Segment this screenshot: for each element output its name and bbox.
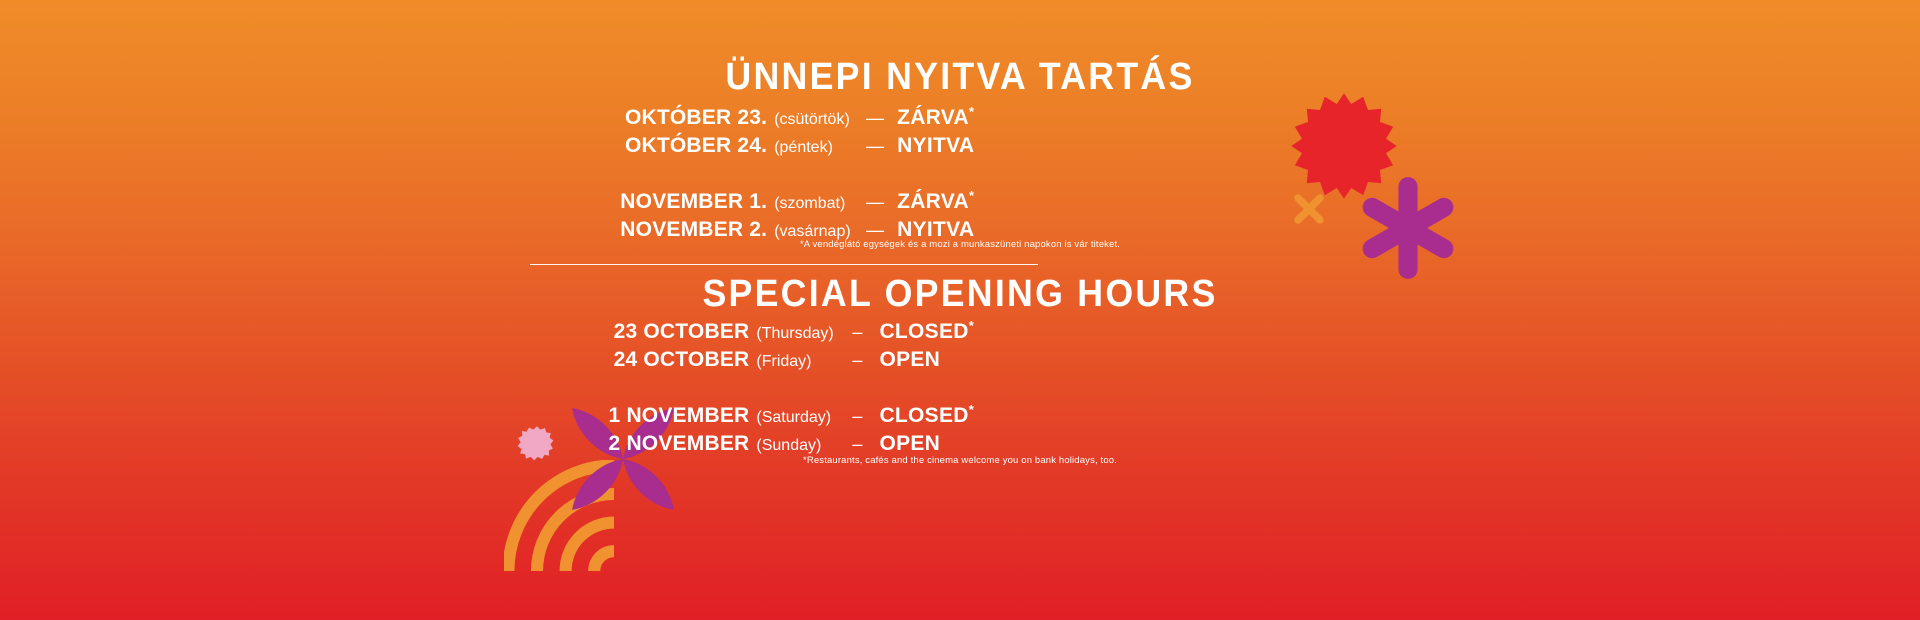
table-row: 24 OCTOBER (Friday) – OPEN xyxy=(600,348,980,376)
row-date: 23 OCTOBER xyxy=(600,320,756,348)
row-dash: — xyxy=(860,134,890,162)
row-state: ZÁRVA* xyxy=(890,190,980,218)
row-state-label: NYITVA xyxy=(897,218,974,241)
row-dash: – xyxy=(842,348,872,376)
row-state: CLOSED* xyxy=(872,404,980,432)
table-row: NOVEMBER 1. (szombat) — ZÁRVA* xyxy=(610,190,980,218)
row-state: ZÁRVA* xyxy=(890,106,980,134)
footnote-star: * xyxy=(969,104,974,119)
row-spacer xyxy=(600,376,980,404)
row-state-label: NYITVA xyxy=(897,134,974,157)
row-dash: – xyxy=(842,404,872,432)
hungarian-schedule-table: OKTÓBER 23. (csütörtök) — ZÁRVA* OKTÓBER… xyxy=(610,106,980,246)
row-day: (csütörtök) xyxy=(774,106,860,134)
row-dash: – xyxy=(842,320,872,348)
table-row: OKTÓBER 23. (csütörtök) — ZÁRVA* xyxy=(610,106,980,134)
row-state-label: ZÁRVA xyxy=(897,190,969,213)
row-state-label: OPEN xyxy=(879,348,940,371)
row-spacer xyxy=(610,162,980,190)
row-date: 1 NOVEMBER xyxy=(600,404,756,432)
row-day: (Friday) xyxy=(756,348,842,376)
footnote-star: * xyxy=(969,318,974,333)
row-state: OPEN xyxy=(872,348,980,376)
row-date: 24 OCTOBER xyxy=(600,348,756,376)
row-state: NYITVA xyxy=(890,134,980,162)
row-dash: — xyxy=(860,106,890,134)
row-day: (Thursday) xyxy=(756,320,842,348)
english-schedule-table: 23 OCTOBER (Thursday) – CLOSED* 24 OCTOB… xyxy=(600,320,980,460)
table-row: OKTÓBER 24. (péntek) — NYITVA xyxy=(610,134,980,162)
footnote-star: * xyxy=(969,188,974,203)
hungarian-heading: ÜNNEPI NYITVA TARTÁS xyxy=(58,58,1863,96)
row-state-label: ZÁRVA xyxy=(897,106,969,129)
row-state: CLOSED* xyxy=(872,320,980,348)
promotional-banner: ÜNNEPI NYITVA TARTÁS OKTÓBER 23. (csütör… xyxy=(0,0,1920,620)
row-day: (péntek) xyxy=(774,134,860,162)
row-date: NOVEMBER 1. xyxy=(610,190,774,218)
english-heading: SPECIAL OPENING HOURS xyxy=(58,275,1863,313)
row-state-label: CLOSED xyxy=(879,320,968,343)
english-footnote: *Restaurants, cafés and the cinema welco… xyxy=(0,455,1920,466)
table-row: 1 NOVEMBER (Saturday) – CLOSED* xyxy=(600,404,980,432)
row-date: OKTÓBER 23. xyxy=(610,106,774,134)
hungarian-footnote: *A vendéglátó egységek és a mozi a munka… xyxy=(0,239,1920,250)
row-state-label: CLOSED xyxy=(879,404,968,427)
table-row: 23 OCTOBER (Thursday) – CLOSED* xyxy=(600,320,980,348)
row-dash: — xyxy=(860,190,890,218)
row-day: (Saturday) xyxy=(756,404,842,432)
footnote-star: * xyxy=(969,402,974,417)
banner-content: ÜNNEPI NYITVA TARTÁS OKTÓBER 23. (csütör… xyxy=(0,0,1920,620)
section-divider xyxy=(530,264,1038,265)
row-day: (szombat) xyxy=(774,190,860,218)
row-state-label: OPEN xyxy=(879,432,940,455)
row-date: OKTÓBER 24. xyxy=(610,134,774,162)
